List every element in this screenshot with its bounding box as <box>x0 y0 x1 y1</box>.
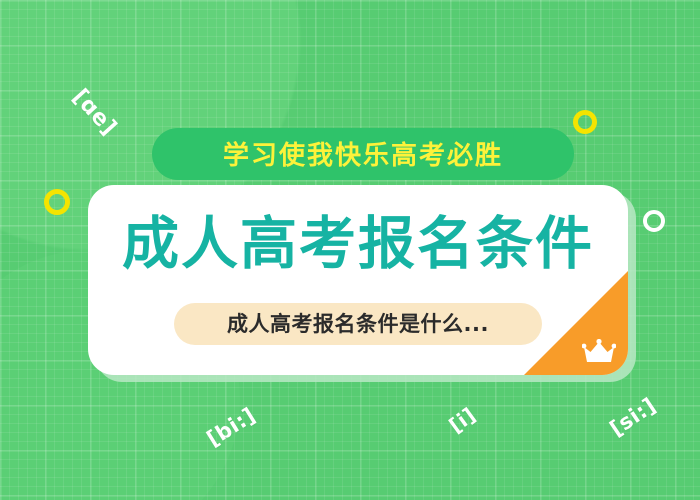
main-card: 成人高考报名条件 成人高考报名条件是什么... <box>88 185 628 375</box>
card-title: 成人高考报名条件 <box>88 211 628 277</box>
crown-icon <box>582 339 616 365</box>
poster-canvas: [ɑe] [bi:] [i] [si:] 学习使我快乐高考必胜 成人高考报名条件… <box>0 0 700 500</box>
banner-text: 学习使我快乐高考必胜 <box>223 135 503 172</box>
ring-yellow-left <box>44 189 70 215</box>
subtitle-pill: 成人高考报名条件是什么... <box>174 303 542 345</box>
subtitle-text: 成人高考报名条件是什么... <box>227 308 489 338</box>
banner-pill: 学习使我快乐高考必胜 <box>152 128 574 180</box>
ring-yellow-top-right <box>573 110 597 134</box>
ring-white-right <box>643 210 665 232</box>
